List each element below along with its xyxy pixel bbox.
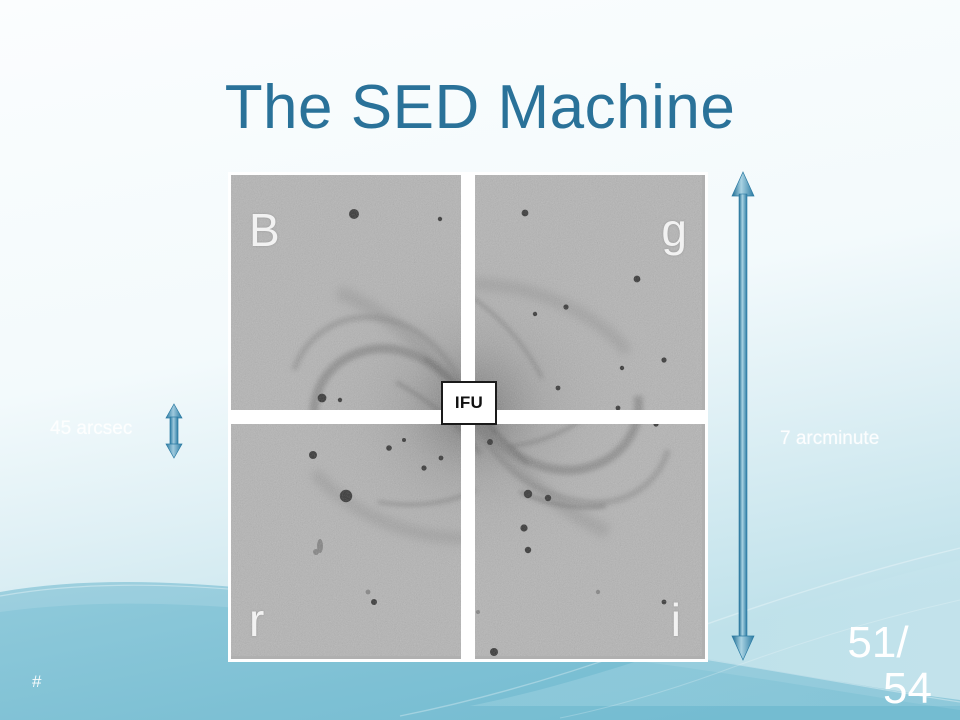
- panel-band-r: r: [231, 424, 461, 659]
- panel-band-g: g: [475, 175, 705, 410]
- page-number-total: 54: [818, 666, 938, 712]
- page-number-current: 51/: [818, 620, 938, 666]
- galaxy-image-br: [475, 424, 702, 656]
- panel-band-B: B: [231, 175, 461, 410]
- ifu-marker-box: IFU: [441, 381, 497, 425]
- slide-title: The SED Machine: [0, 72, 960, 143]
- field-scale-label: 7 arcminute: [780, 428, 879, 450]
- band-label-r: r: [249, 597, 264, 643]
- galaxy-image-bl: [231, 424, 461, 656]
- band-label-b: B: [249, 207, 280, 253]
- field-scale-double-arrow-icon: [728, 170, 758, 662]
- slide-number-placeholder: #: [32, 672, 41, 692]
- panel-band-i: i: [475, 424, 705, 659]
- ifu-scale-label: 45 arcsec: [50, 418, 132, 440]
- band-label-i: i: [671, 597, 681, 643]
- slide-canvas: The SED Machine: [0, 0, 960, 720]
- galaxy-mosaic-figure: B g r i IFU: [228, 172, 708, 662]
- page-number: 51/ 54: [818, 620, 938, 712]
- band-label-g: g: [661, 207, 687, 253]
- ifu-scale-double-arrow-icon: [160, 402, 188, 460]
